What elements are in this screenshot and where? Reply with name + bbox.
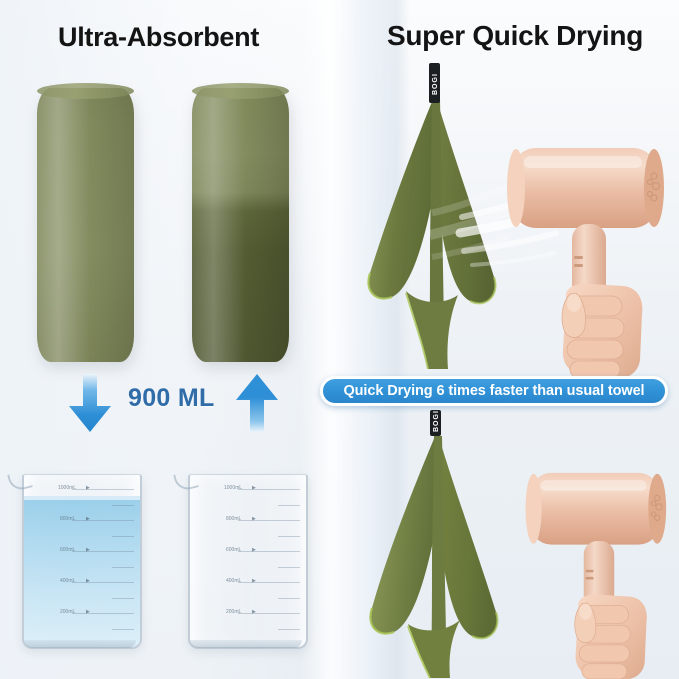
page-title-right: Super Quick Drying [387, 20, 643, 52]
page-title-left: Ultra-Absorbent [58, 22, 259, 53]
absorbed-volume-label: 900 ML [128, 384, 215, 413]
towel-hang-tag: BOGI [430, 410, 441, 436]
beaker-graduation-label: 200mL [226, 609, 241, 615]
quick-drying-banner-text: Quick Drying 6 times faster than usual t… [344, 383, 645, 399]
hanging-towel-shape [358, 420, 538, 679]
hair-dryer-top [506, 128, 679, 378]
water-fill [24, 496, 140, 647]
beaker-glass-body: 1000mL ▶ 800mL ▶ 600mL ▶ 400mL ▶ 200mL ▶ [188, 474, 308, 649]
water-surface-line [24, 496, 140, 500]
towel-roll-top-edge [37, 83, 134, 99]
quick-drying-banner: Quick Drying 6 times faster than usual t… [320, 376, 668, 406]
absorb-up-arrow-icon [233, 372, 281, 434]
hair-dryer-bottom [523, 455, 679, 679]
beaker-graduation-label: 600mL [226, 547, 241, 553]
beaker-graduation-label: 800mL [60, 516, 75, 522]
beaker-glass-body: 1000mL ▶ 800mL ▶ 600mL ▶ 400mL ▶ 200mL ▶ [22, 474, 142, 649]
absorb-down-arrow-icon [66, 372, 114, 434]
towel-roll-top-edge [192, 83, 289, 99]
beaker-with-water: 1000mL ▶ 800mL ▶ 600mL ▶ 400mL ▶ 200mL ▶ [22, 466, 138, 646]
hang-tag-brand-text: BOGI [432, 73, 439, 95]
beaker-base [190, 640, 302, 648]
towel-hang-tag: BOGI [429, 63, 440, 103]
beaker-graduation-label: 400mL [226, 578, 241, 584]
dry-towel-roll [37, 88, 134, 362]
beaker-graduation-label: 400mL [60, 578, 75, 584]
hang-tag-brand-text: BOGI [433, 410, 440, 432]
beaker-graduation-label: 800mL [226, 516, 241, 522]
beaker-base [24, 640, 136, 648]
beaker-graduation-label: 1000mL [58, 485, 76, 491]
beaker-graduation-label: 200mL [60, 609, 75, 615]
infographic-canvas: Ultra-Absorbent Super Quick Drying [0, 0, 679, 679]
empty-beaker: 1000mL ▶ 800mL ▶ 600mL ▶ 400mL ▶ 200mL ▶ [188, 466, 304, 646]
wet-towel-roll [192, 88, 289, 362]
beaker-graduation-label: 600mL [60, 547, 75, 553]
dry-towel-after-blow-drying: BOGI [358, 420, 538, 679]
beaker-graduation-label: 1000mL [224, 485, 242, 491]
